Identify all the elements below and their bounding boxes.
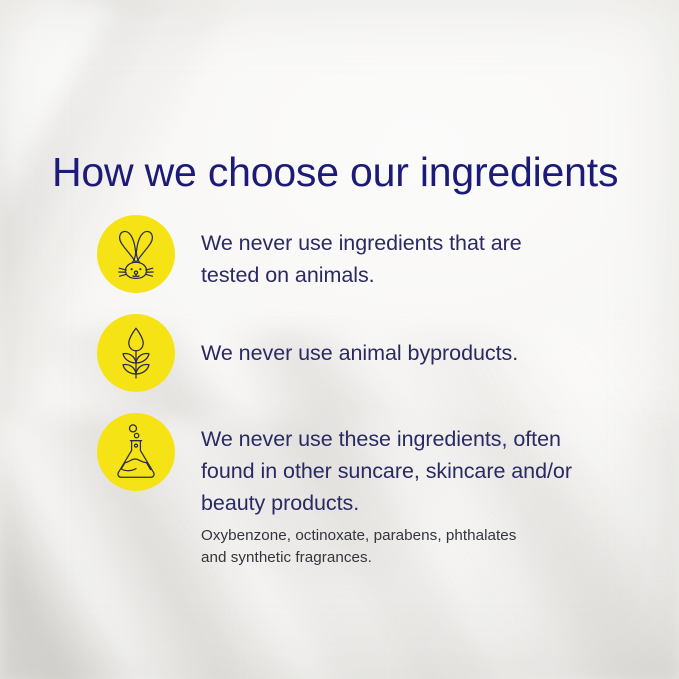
benefit-list: We never use ingredients that are tested…: [97, 215, 637, 591]
list-item: We never use ingredients that are tested…: [97, 215, 637, 293]
list-item-line: found in other suncare, skincare and/or: [201, 455, 637, 487]
bunny-heart-ears-icon: [111, 228, 161, 280]
list-item-line: tested on animals.: [201, 259, 637, 291]
badge-circle-cruelty-free: [97, 215, 175, 293]
list-item-text: We never use these ingredients, often fo…: [175, 413, 637, 569]
list-item: We never use animal byproducts.: [97, 314, 637, 392]
list-item-text: We never use animal byproducts.: [175, 314, 637, 369]
lab-flask-icon: [113, 424, 159, 480]
list-item-line: We never use ingredients that are: [201, 227, 637, 259]
badge-circle-no-chemicals: [97, 413, 175, 491]
list-item-line: We never use these ingredients, often: [201, 423, 637, 455]
ingredients-infographic: How we choose our ingredients: [0, 0, 679, 679]
page-title: How we choose our ingredients: [52, 149, 618, 196]
plant-sprout-icon: [114, 326, 158, 380]
list-item: We never use these ingredients, often fo…: [97, 413, 637, 569]
list-item-note-line: Oxybenzone, octinoxate, parabens, phthal…: [201, 525, 637, 547]
list-item-note: Oxybenzone, octinoxate, parabens, phthal…: [201, 525, 637, 569]
list-item-text: We never use ingredients that are tested…: [175, 215, 637, 291]
list-item-note-line: and synthetic fragrances.: [201, 547, 637, 569]
list-item-line: We never use animal byproducts.: [201, 337, 637, 369]
badge-circle-vegan: [97, 314, 175, 392]
list-item-line: beauty products.: [201, 487, 637, 519]
